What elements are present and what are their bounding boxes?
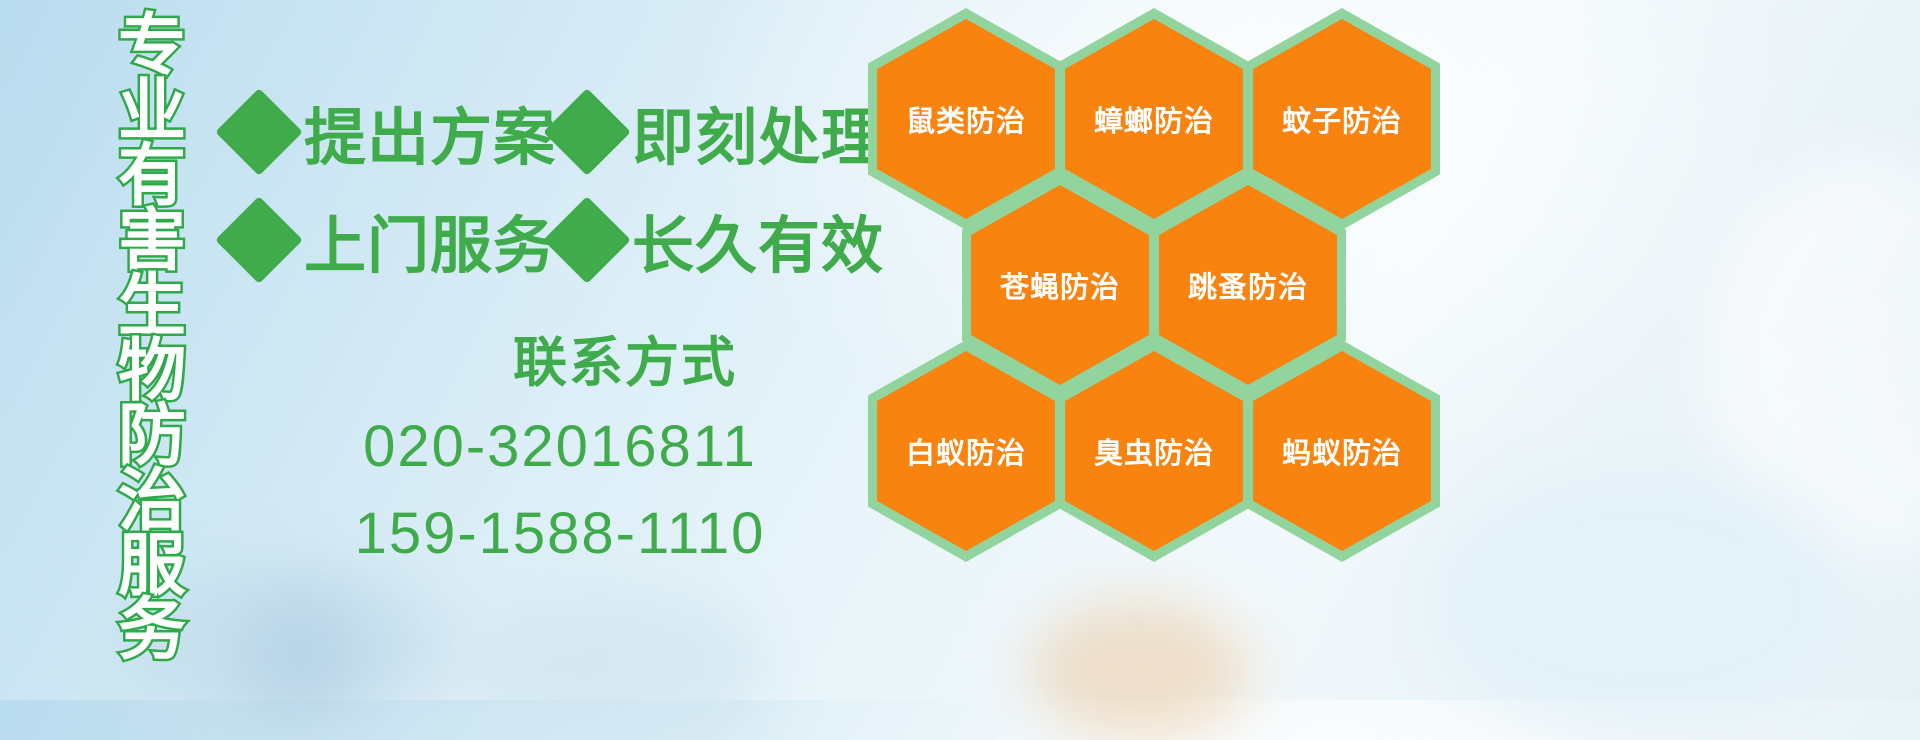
diamond-icon xyxy=(543,88,631,176)
vertical-title-char: 防 xyxy=(118,404,186,469)
vertical-title-char: 生 xyxy=(118,274,186,339)
vertical-title-char: 业 xyxy=(118,79,186,144)
service-label: 蚂蚁防治 xyxy=(1282,430,1402,472)
contact-title: 联系方式 xyxy=(430,318,820,397)
feature-item-long-lasting: 长久有效 xyxy=(556,195,884,285)
service-honeycomb: 鼠类防治 蟑螂防治 蚊子防治 苍蝇防治 跳蚤防治 白蚁防治 臭虫防治 蚂蚁防治 xyxy=(860,0,1460,560)
contact-block: 联系方式 020-32016811 159-1588-1110 xyxy=(300,318,820,570)
diamond-icon xyxy=(215,196,303,284)
service-label: 蟑螂防治 xyxy=(1094,98,1214,140)
feature-label: 即刻处理 xyxy=(632,87,884,177)
service-label: 苍蝇防治 xyxy=(1000,264,1120,306)
background-blob-left-small xyxy=(240,600,360,710)
feature-list: 提出方案 即刻处理 上门服务 长久有效 xyxy=(228,78,868,294)
vertical-title-char: 有 xyxy=(118,144,186,209)
service-label: 臭虫防治 xyxy=(1094,430,1214,472)
diamond-icon xyxy=(215,88,303,176)
background-blob-orange xyxy=(1030,600,1250,740)
service-label: 蚊子防治 xyxy=(1282,98,1402,140)
feature-label: 长久有效 xyxy=(632,195,884,285)
vertical-title-char: 专 xyxy=(118,14,186,79)
feature-item-onsite-service: 上门服务 xyxy=(228,195,556,285)
feature-item-immediate-handling: 即刻处理 xyxy=(556,87,884,177)
background-blob-right xyxy=(1430,470,1850,730)
feature-label: 上门服务 xyxy=(304,195,556,285)
phone-mobile[interactable]: 159-1588-1110 xyxy=(300,498,820,571)
vertical-title-char: 服 xyxy=(118,534,186,599)
service-label: 鼠类防治 xyxy=(906,98,1026,140)
vertical-banner-title: 专 业 有 害 生 物 防 治 服 务 xyxy=(104,14,200,574)
feature-item-propose-plan: 提出方案 xyxy=(228,87,556,177)
feature-label: 提出方案 xyxy=(304,87,556,177)
vertical-title-char: 务 xyxy=(118,598,186,663)
vertical-title-char: 物 xyxy=(118,339,186,404)
background-blob-center xyxy=(470,590,770,740)
vertical-title-char: 害 xyxy=(118,209,186,274)
vertical-title-char: 治 xyxy=(118,469,186,534)
service-label: 跳蚤防治 xyxy=(1188,264,1308,306)
service-label: 白蚁防治 xyxy=(906,430,1026,472)
feature-row: 提出方案 即刻处理 xyxy=(228,78,868,186)
phone-landline[interactable]: 020-32016811 xyxy=(300,411,820,484)
feature-row: 上门服务 长久有效 xyxy=(228,186,868,294)
diamond-icon xyxy=(543,196,631,284)
background-glow-right xyxy=(1700,150,1920,570)
